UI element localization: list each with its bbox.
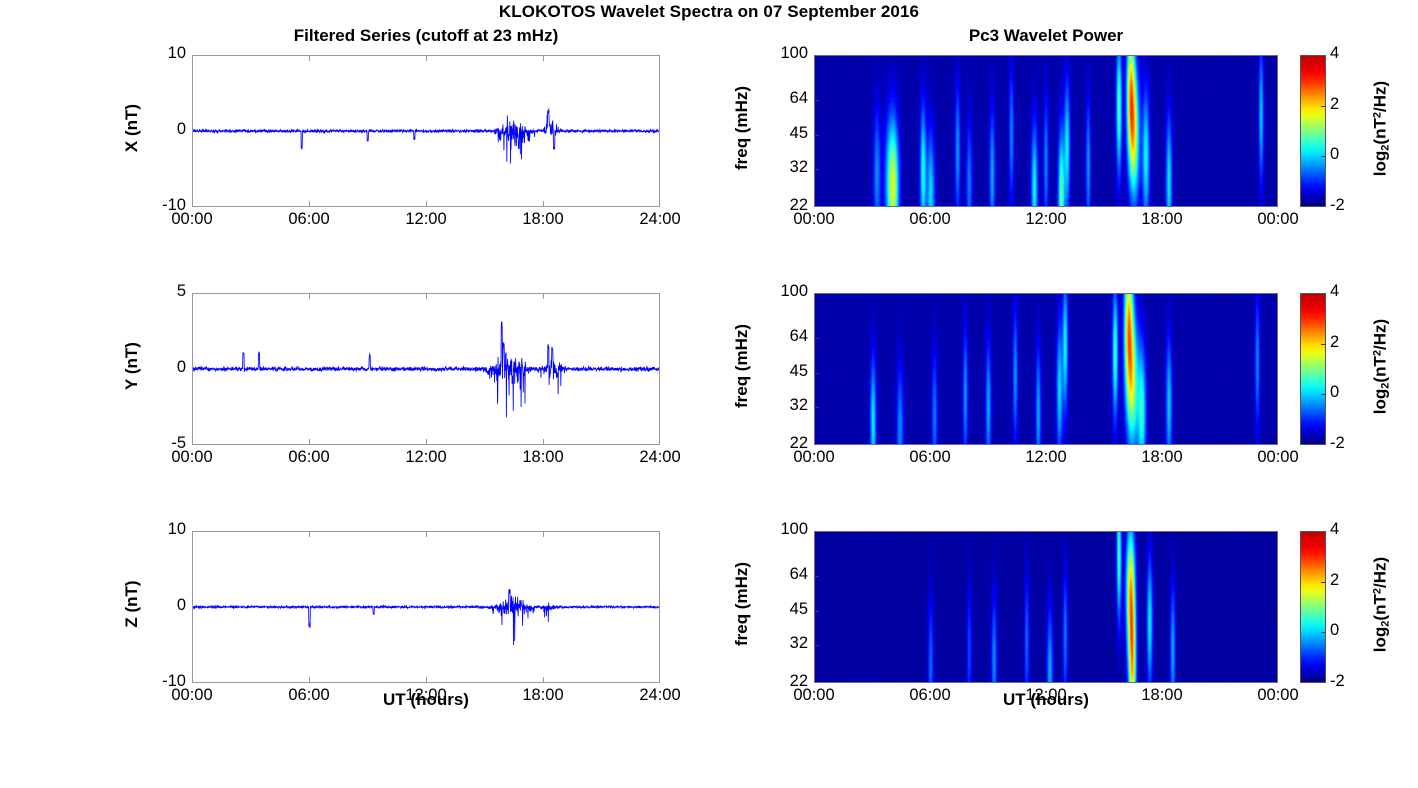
left-column-title: Filtered Series (cutoff at 23 mHz) [192,26,660,46]
xtickmark-y-3 [543,293,544,299]
freq-tick-z-2: 45 [752,600,808,619]
xtickmark-x-1 [309,55,310,61]
freq-tick-y-3: 32 [752,396,808,415]
colorbar-tick-y-1: 2 [1330,333,1360,352]
colorbar-tick-z-2: 0 [1330,621,1360,640]
colorbar-label-z: log2(nT2/Hz) [1371,510,1392,700]
right-column-title: Pc3 Wavelet Power [814,26,1278,46]
timeseries-panel-y [192,293,660,445]
spec-xtick-x-2: 12:00 [1001,210,1091,229]
xtick-x-3: 18:00 [498,210,588,229]
freq-tickmark-z-2 [814,611,819,612]
freq-tickmark-y-2 [814,373,819,374]
timeseries-trace-y [193,294,659,444]
xtickmark-z-3 [543,531,544,537]
xtickmark-x-3 [543,55,544,61]
freq-tickmark-z-1 [814,576,819,577]
freq-tick-y-2: 45 [752,362,808,381]
spec-xtick-y-0: 00:00 [769,448,859,467]
colorbar-tickmark-z-2 [1321,632,1325,633]
wavelet-power-image-x [815,56,1277,206]
xtickmark-b-y-1 [309,439,310,445]
colorbar-tick-z-1: 2 [1330,571,1360,590]
freq-tickmark-y-3 [814,407,819,408]
xtick-y-1: 06:00 [264,448,354,467]
xtick-y-4: 24:00 [615,448,705,467]
colorbar-x [1300,55,1326,207]
freq-tickmark-x-2 [814,135,819,136]
spec-xtick-x-4: 00:00 [1233,210,1323,229]
colorbar-tickmark-y-1 [1321,344,1325,345]
freq-tick-x-2: 45 [752,124,808,143]
xtickmark-z-2 [426,531,427,537]
freq-tickmark-x-1 [814,100,819,101]
xtickmark-b-z-3 [543,677,544,683]
colorbar-tick-x-0: 4 [1330,44,1360,63]
timeseries-panel-z [192,531,660,683]
xtick-x-2: 12:00 [381,210,471,229]
colorbar-tick-y-3: -2 [1330,434,1360,453]
freq-tickmark-y-1 [814,338,819,339]
xtickmark-y-1 [309,293,310,299]
figure-canvas: KLOKOTOS Wavelet Spectra on 07 September… [0,0,1418,788]
colorbar-tickmark-y-2 [1321,394,1325,395]
spec-xtick-y-3: 18:00 [1117,448,1207,467]
freq-axis-label-z: freq (mHz) [732,514,752,694]
colorbar-tickmark-x-2 [1321,156,1325,157]
timeseries-trace-z [193,532,659,682]
wavelet-power-image-y [815,294,1277,444]
freq-axis-label-x: freq (mHz) [732,38,752,218]
timeseries-trace-x [193,56,659,206]
xtickmark-b-x-3 [543,201,544,207]
colorbar-tick-z-0: 4 [1330,520,1360,539]
xtickmark-b-y-2 [426,439,427,445]
freq-tick-x-1: 64 [752,89,808,108]
spec-xtick-y-1: 06:00 [885,448,975,467]
xtick-y-0: 00:00 [147,448,237,467]
colorbar-tickmark-z-1 [1321,582,1325,583]
colorbar-tick-y-2: 0 [1330,383,1360,402]
spec-xtick-x-1: 06:00 [885,210,975,229]
spec-xtick-y-4: 00:00 [1233,448,1323,467]
colorbar-tick-x-3: -2 [1330,196,1360,215]
xtickmark-b-z-1 [309,677,310,683]
freq-tick-x-3: 32 [752,158,808,177]
freq-tick-z-1: 64 [752,565,808,584]
freq-tick-z-0: 100 [752,520,808,539]
y-axis-label-z: Z (nT) [122,514,142,694]
freq-tick-y-1: 64 [752,327,808,346]
right-x-axis-label: UT (hours) [814,690,1278,710]
y-axis-label-y: Y (nT) [122,276,142,456]
left-x-axis-label: UT (hours) [192,690,660,710]
freq-tick-x-0: 100 [752,44,808,63]
xtick-y-2: 12:00 [381,448,471,467]
xtickmark-b-z-2 [426,677,427,683]
colorbar-label-y: log2(nT2/Hz) [1371,272,1392,462]
freq-tickmark-z-3 [814,645,819,646]
spectrogram-panel-z [814,531,1278,683]
xtickmark-b-x-2 [426,201,427,207]
xtick-y-3: 18:00 [498,448,588,467]
freq-tick-y-0: 100 [752,282,808,301]
xtick-x-4: 24:00 [615,210,705,229]
colorbar-tickmark-x-1 [1321,106,1325,107]
colorbar-z [1300,531,1326,683]
colorbar-tick-z-3: -2 [1330,672,1360,691]
colorbar-label-x: log2(nT2/Hz) [1371,34,1392,224]
colorbar-tick-y-0: 4 [1330,282,1360,301]
figure-title: KLOKOTOS Wavelet Spectra on 07 September… [0,2,1418,22]
freq-tickmark-x-3 [814,169,819,170]
spec-xtick-x-0: 00:00 [769,210,859,229]
xtickmark-b-y-3 [543,439,544,445]
timeseries-panel-x [192,55,660,207]
spectrogram-panel-x [814,55,1278,207]
xtickmark-b-x-1 [309,201,310,207]
freq-axis-label-y: freq (mHz) [732,276,752,456]
xtickmark-x-2 [426,55,427,61]
spec-xtick-x-3: 18:00 [1117,210,1207,229]
spec-xtick-y-2: 12:00 [1001,448,1091,467]
xtickmark-z-1 [309,531,310,537]
colorbar-y [1300,293,1326,445]
colorbar-tick-x-2: 0 [1330,145,1360,164]
xtick-x-0: 00:00 [147,210,237,229]
wavelet-power-image-z [815,532,1277,682]
y-axis-label-x: X (nT) [122,38,142,218]
xtick-x-1: 06:00 [264,210,354,229]
xtickmark-y-2 [426,293,427,299]
freq-tick-z-3: 32 [752,634,808,653]
spectrogram-panel-y [814,293,1278,445]
colorbar-tick-x-1: 2 [1330,95,1360,114]
